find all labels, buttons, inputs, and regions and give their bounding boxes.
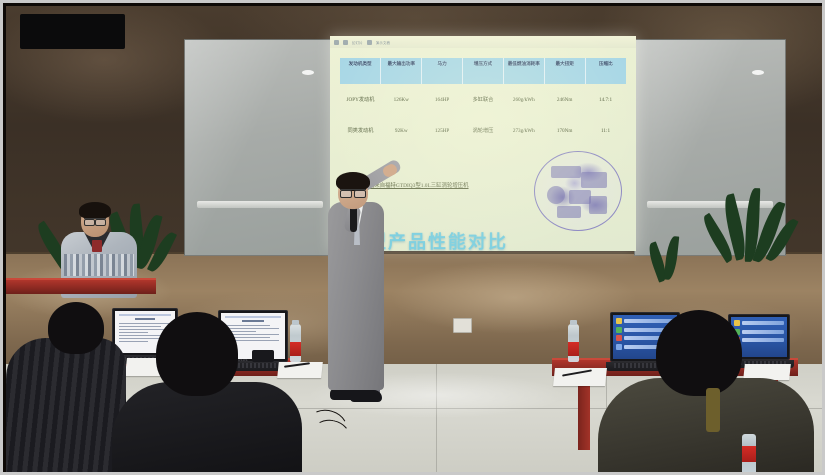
table-cell: 多缸联合 [463, 84, 504, 115]
whiteboard-left [184, 39, 336, 256]
engine-comparison-table: 发动机类型 最大输出功率 马力 增压方式 最低燃油消耗率 最大扭矩 压缩比 JO… [340, 58, 626, 146]
table-cell: 164HP [422, 84, 463, 115]
bottle-label [290, 342, 301, 356]
toolbar-label-left: 幻灯片 [352, 40, 363, 45]
table-header-cell: 最大输出功率 [381, 58, 422, 84]
table-header-cell: 压缩比 [585, 58, 626, 84]
menu-item-icon [734, 320, 740, 326]
table-cell: 170Nm [544, 115, 585, 146]
undo-icon [367, 40, 372, 45]
table-cell: 125HP [422, 115, 463, 146]
audience-head [656, 310, 742, 396]
table-header-cell: 最低燃油消耗率 [503, 58, 544, 84]
audience-torso [6, 338, 126, 475]
table-header-row: 发动机类型 最大输出功率 马力 增压方式 最低燃油消耗率 最大扭矩 压缩比 [340, 58, 626, 84]
menu-item-icon [616, 335, 622, 341]
table-cell: JOPY发动机 [340, 84, 381, 115]
table-cell: 同类发动机 [340, 115, 381, 146]
table-header-cell: 发动机类型 [340, 58, 381, 84]
hair [79, 202, 111, 219]
table-cell: 126Kw [381, 84, 422, 115]
lanyard [706, 388, 720, 432]
audience-torso [112, 382, 302, 475]
bottle-cap [570, 320, 577, 325]
slide-icon [343, 40, 348, 45]
table-cell: 14.7:1 [585, 84, 626, 115]
table-row: JOPY发动机 126Kw 164HP 多缸联合 260g/kWh 246Nm … [340, 84, 626, 115]
scene-photo: 幻灯片 演示文稿 发动机类型 最大输出功率 马力 增压方式 最低燃油消耗率 最大… [6, 6, 825, 475]
table-row: 同类发动机 92Kw 125HP 涡轮增压 273g/kWh 170Nm 11:… [340, 115, 626, 146]
table-cell: 260g/kWh [503, 84, 544, 115]
whiteboard-marker-tray [197, 201, 323, 208]
photo-frame: 幻灯片 演示文稿 发动机类型 最大输出功率 马力 增压方式 最低燃油消耗率 最大… [0, 0, 825, 475]
glasses-icon [340, 189, 366, 196]
presenter-shoe [350, 390, 382, 402]
wall-panel-dark [20, 14, 125, 49]
hoodie-pattern [64, 254, 134, 276]
menu-item-icon [616, 327, 622, 333]
audience-head [48, 302, 104, 354]
table-cell: 273g/kWh [503, 115, 544, 146]
table-cell: 涡轮增压 [463, 115, 504, 146]
engine-illustration-icon [534, 151, 622, 231]
toolbar-label-right: 演示文稿 [376, 40, 390, 45]
glasses-icon [84, 218, 106, 224]
audience-head [156, 312, 238, 396]
table-header-cell: 增压方式 [463, 58, 504, 84]
slide-app-toolbar: 幻灯片 演示文稿 [330, 36, 636, 48]
table-header-cell: 马力 [422, 58, 463, 84]
bottle-label [568, 342, 579, 356]
menu-item-icon [616, 344, 622, 350]
cursor-icon [334, 40, 339, 45]
smartphone[interactable] [252, 350, 274, 362]
table-header-cell: 最大扭矩 [544, 58, 585, 84]
shirt-graphic [92, 240, 102, 252]
table-cell: 92Kw [381, 115, 422, 146]
table-cell: 246Nm [544, 84, 585, 115]
bottle-label [742, 446, 756, 462]
desk-back-left [6, 278, 156, 294]
bottle-cap [292, 320, 299, 325]
wall-outlet [453, 318, 472, 333]
table-cell: 11:1 [585, 115, 626, 146]
menu-item-icon [616, 318, 622, 324]
